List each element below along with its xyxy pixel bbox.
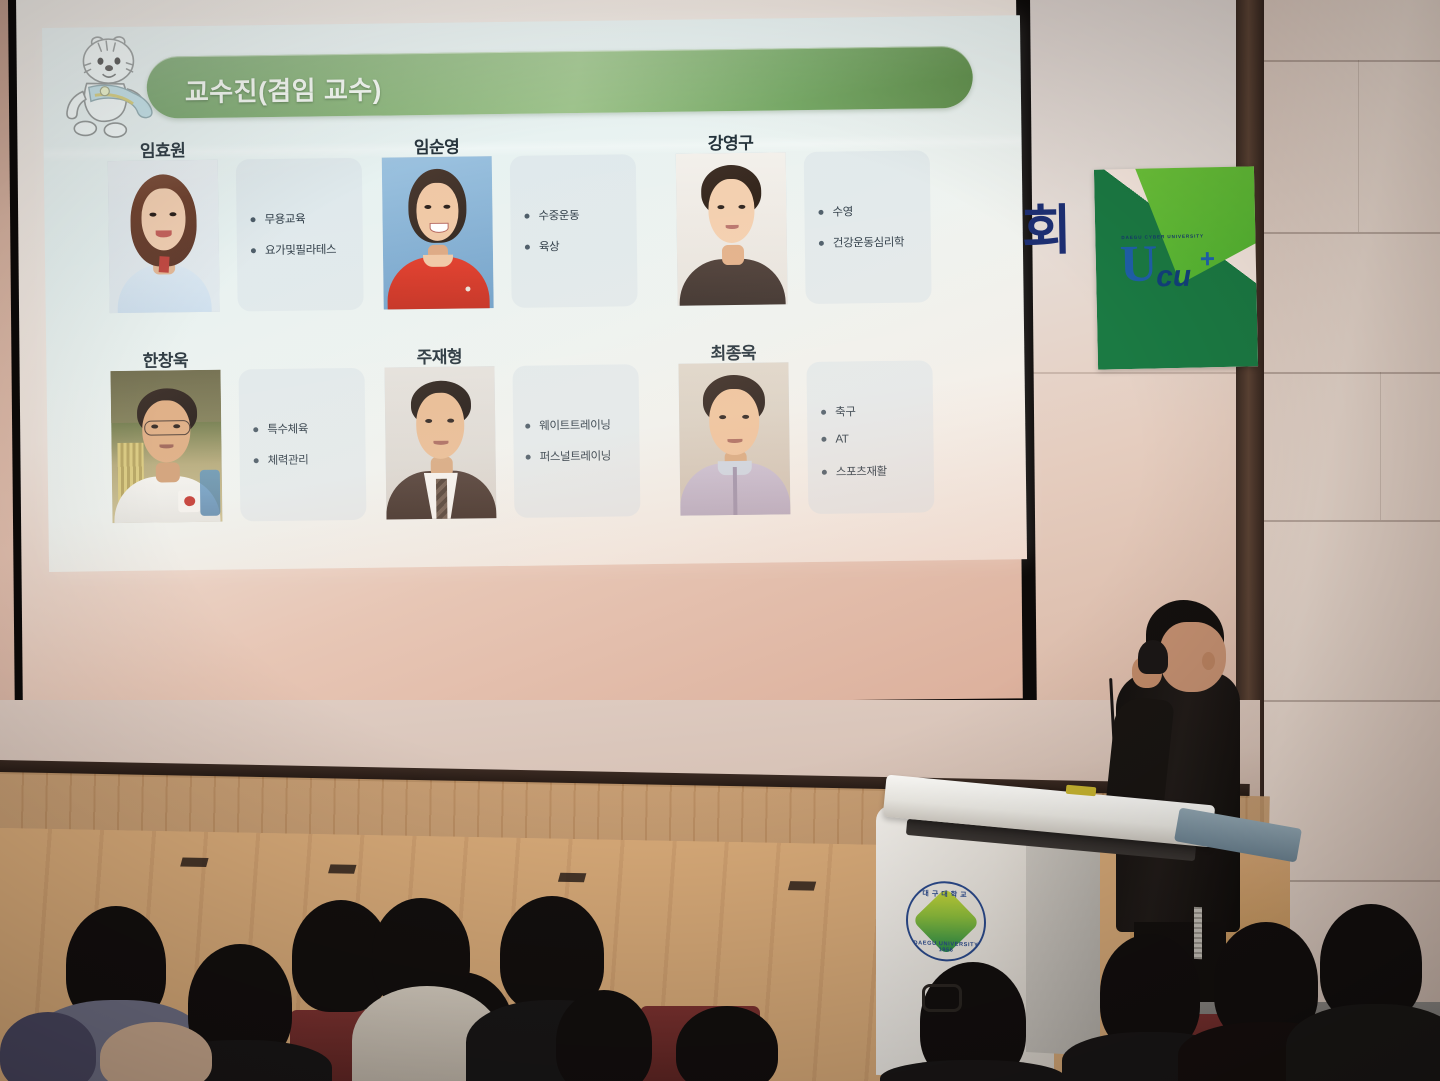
professor-portrait: [382, 156, 494, 309]
skill-item: 요가및필라테스: [251, 241, 336, 258]
skill-item: 무용교육: [250, 211, 305, 228]
presenter-face: [1160, 622, 1226, 692]
professor-skills: 무용교육 요가및필라테스: [236, 158, 364, 312]
professor-portrait: [108, 160, 220, 313]
skill-item: AT: [821, 433, 848, 445]
banner-logo-letter: U: [1119, 238, 1158, 291]
banner-logo-word: cu: [1156, 260, 1192, 295]
professor-name: 한창욱: [110, 346, 220, 372]
university-banner: DAEGU CYBER UNIVERSITY U cu +: [1094, 166, 1258, 369]
skill-item: 퍼스널트레이닝: [526, 448, 611, 465]
skill-item: 체력관리: [254, 452, 309, 469]
professor-portrait: [384, 366, 496, 519]
university-emblem: 대구대학교 DAEGU UNIVERSITY 1956: [906, 880, 986, 963]
professor-name: 임순영: [381, 132, 491, 158]
slide-title: 교수진(겸임 교수): [185, 70, 382, 110]
emblem-korean-text: 대구대학교: [908, 888, 984, 901]
wall-seam: [1022, 372, 1244, 374]
professor-portrait: [676, 152, 788, 305]
presenter-ear: [1202, 652, 1215, 670]
skill-item: 스포츠재활: [822, 463, 887, 480]
auditorium-photo: 교수진(겸임 교수) 임효원 무용교육 요가및필라테스 임순영: [0, 0, 1440, 1081]
professor-name: 임효원: [107, 136, 217, 162]
professor-skills: 특수체육 체력관리: [238, 368, 366, 522]
skill-item: 특수체육: [253, 421, 308, 438]
professor-skills: 수영 건강운동심리학: [804, 150, 932, 304]
banner-korean-text: 회: [1021, 186, 1070, 266]
skill-item: 육상: [525, 238, 560, 254]
skill-item: 수영: [818, 203, 853, 219]
podium-vent: [1194, 907, 1202, 959]
audience-shoulders: [1286, 1004, 1440, 1081]
microphone-icon: [1138, 640, 1168, 674]
skill-item: 건강운동심리학: [819, 234, 904, 251]
banner-logo-plus: +: [1199, 243, 1215, 274]
professor-name: 최종욱: [678, 338, 788, 364]
skill-item: 웨이트트레이닝: [525, 417, 610, 434]
skill-item: 축구: [821, 403, 856, 419]
professor-skills: 웨이트트레이닝 퍼스널트레이닝: [512, 364, 640, 518]
professor-portrait: [678, 362, 790, 515]
audience-glasses-icon: [922, 984, 962, 1012]
skill-item: 수중운동: [524, 207, 579, 224]
emblem-english-text: DAEGU UNIVERSITY 1956: [908, 940, 984, 955]
professor-name: 주재형: [384, 342, 494, 368]
presentation-slide: 교수진(겸임 교수) 임효원 무용교육 요가및필라테스 임순영: [42, 15, 1027, 572]
professor-portrait: [110, 370, 222, 523]
professor-skills: 수중운동 육상: [510, 154, 638, 308]
professor-name: 강영구: [675, 128, 785, 154]
professor-skills: 축구 AT 스포츠재활: [806, 360, 934, 514]
